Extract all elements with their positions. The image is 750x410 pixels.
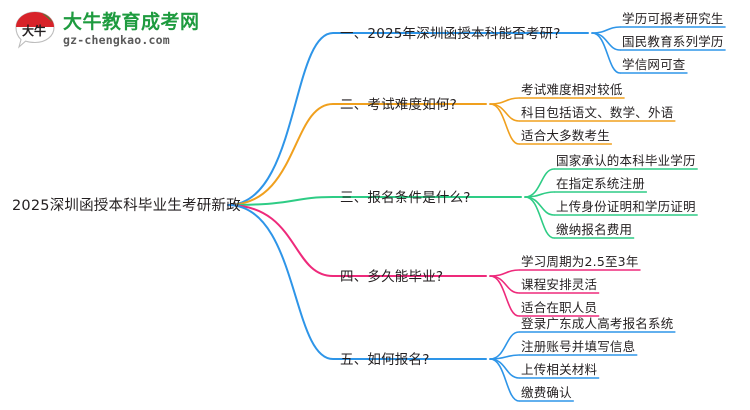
leaf-label-b1-0[interactable]: 学历可报考研究生 bbox=[622, 8, 724, 27]
leaf-connector-b4-2 bbox=[490, 276, 519, 316]
leaf-label-b3-0[interactable]: 国家承认的本科毕业学历 bbox=[556, 150, 696, 169]
branch-label-b1[interactable]: 一、2025年深圳函授本科能否考研? bbox=[340, 22, 561, 42]
svg-text:大牛: 大牛 bbox=[22, 23, 46, 38]
leaf-connector-b2-2 bbox=[490, 104, 519, 144]
leaf-connector-b4-0 bbox=[490, 270, 519, 276]
leaf-label-b5-0[interactable]: 登录广东成人高考报名系统 bbox=[521, 313, 673, 332]
branch-label-b2[interactable]: 二、考试难度如何? bbox=[340, 93, 457, 113]
branch-label-b4[interactable]: 四、多久能毕业? bbox=[340, 265, 443, 285]
leaf-connector-b3-3 bbox=[525, 197, 554, 238]
leaf-connector-b2-1 bbox=[490, 104, 519, 121]
leaf-label-b3-1[interactable]: 在指定系统注册 bbox=[556, 173, 645, 192]
leaf-connector-b2-0 bbox=[490, 98, 519, 104]
branch-label-b5[interactable]: 五、如何报名? bbox=[340, 348, 430, 368]
leaf-label-b3-2[interactable]: 上传身份证明和学历证明 bbox=[556, 196, 696, 215]
leaf-label-b5-2[interactable]: 上传相关材料 bbox=[521, 359, 597, 378]
branch-label-b3[interactable]: 三、报名条件是什么? bbox=[340, 186, 471, 206]
bull-speech-bubble-icon: 大牛 bbox=[14, 10, 56, 50]
leaf-connector-b1-0 bbox=[592, 27, 620, 33]
leaf-label-b1-2[interactable]: 学信网可查 bbox=[622, 54, 686, 73]
leaf-label-b2-2[interactable]: 适合大多数考生 bbox=[521, 125, 610, 144]
logo-title: 大牛教育成考网 bbox=[63, 13, 200, 32]
leaf-label-b4-1[interactable]: 课程安排灵活 bbox=[521, 274, 597, 293]
site-logo: 大牛 大牛教育成考网 gz-chengkao.com bbox=[14, 10, 200, 50]
leaf-connector-b5-3 bbox=[490, 359, 519, 401]
leaf-label-b5-1[interactable]: 注册账号并填写信息 bbox=[521, 336, 635, 355]
leaf-label-b4-0[interactable]: 学习周期为2.5至3年 bbox=[521, 251, 639, 270]
leaf-label-b2-0[interactable]: 考试难度相对较低 bbox=[521, 79, 623, 98]
leaf-label-b3-3[interactable]: 缴纳报名费用 bbox=[556, 219, 632, 238]
mindmap-root-label: 2025深圳函授本科毕业生考研新政 bbox=[12, 194, 241, 215]
logo-text: 大牛教育成考网 gz-chengkao.com bbox=[63, 13, 200, 47]
leaf-connector-b5-1 bbox=[490, 355, 519, 359]
leaf-connector-b1-1 bbox=[592, 33, 620, 50]
leaf-connector-b4-1 bbox=[490, 276, 519, 293]
logo-subtitle: gz-chengkao.com bbox=[63, 35, 200, 47]
leaf-connector-b3-2 bbox=[525, 197, 554, 215]
leaf-connector-b3-1 bbox=[525, 192, 554, 197]
leaf-connector-b1-2 bbox=[592, 33, 620, 73]
leaf-label-b2-1[interactable]: 科目包括语文、数学、外语 bbox=[521, 102, 673, 121]
leaf-label-b1-1[interactable]: 国民教育系列学历 bbox=[622, 31, 724, 50]
leaf-label-b5-3[interactable]: 缴费确认 bbox=[521, 382, 572, 401]
